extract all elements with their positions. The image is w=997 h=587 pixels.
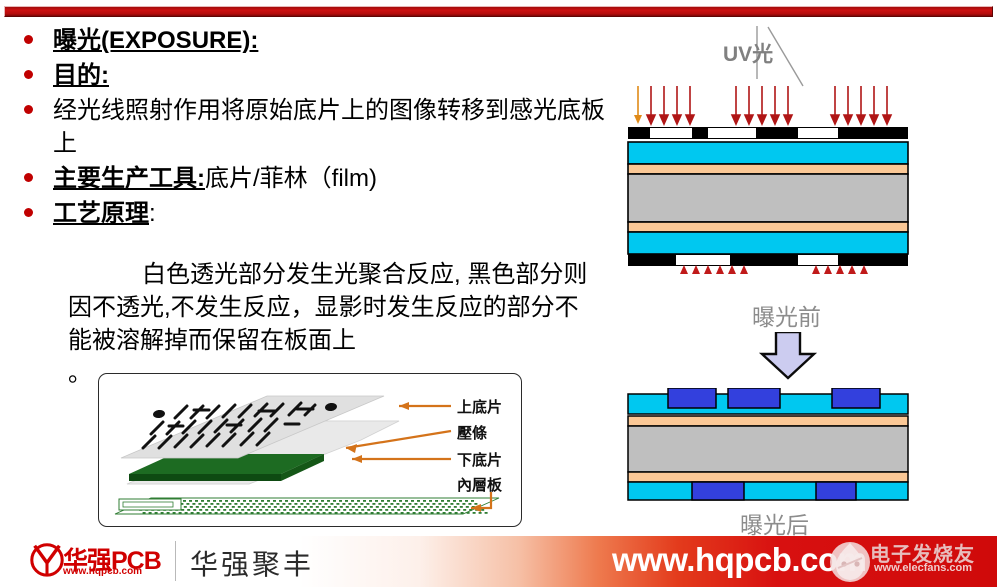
bullet-list: 曝光(EXPOSURE): 目的: 经光线照射作用将原始底片上的图像转移到感光底… — [24, 24, 614, 232]
brand-chinese-name: 华强聚丰 — [190, 543, 314, 583]
list-item-purpose-body: 经光线照射作用将原始底片上的图像转移到感光底板上 — [24, 94, 614, 160]
principle-paragraph: 白色透光部分发生光聚合反应, 黑色部分则因不透光,不发生反应，显影时发生反应的部… — [68, 258, 600, 357]
picture-label-1: 壓條 — [457, 424, 488, 442]
watermark-url: www.elecfans.com — [874, 562, 972, 574]
logo-divider — [175, 541, 176, 581]
panel-stack — [628, 142, 908, 254]
tools-label: 主要生产工具: — [53, 165, 205, 192]
brand-url-sub: www.hqpcb.com — [63, 566, 142, 577]
before-exposure-label: 曝光前 — [752, 298, 821, 332]
bullet-dot-icon — [24, 35, 33, 44]
exposure-diagram-after — [620, 388, 980, 503]
exposure-diagram-before — [620, 24, 980, 274]
bullet-dot-icon — [24, 70, 33, 79]
film-stack-illustration: 上底片 壓條 下底片 內層板 — [98, 373, 522, 527]
picture-label-2: 下底片 — [457, 451, 502, 469]
top-accent-bar — [4, 6, 993, 17]
bullet-dot-icon — [24, 208, 33, 217]
list-item-tools: 主要生产工具:底片/菲林（film) — [24, 162, 614, 195]
bullet-text-group: 主要生产工具:底片/菲林（film) — [53, 162, 614, 195]
bullet-dot-icon — [24, 105, 33, 114]
bullet-text: 曝光(EXPOSURE): — [53, 24, 614, 57]
top-film-mask — [628, 127, 908, 139]
principle-colon: : — [149, 200, 156, 227]
principle-label: 工艺原理 — [53, 200, 149, 227]
list-item-principle: 工艺原理: — [24, 197, 614, 230]
list-item-purpose: 目的: — [24, 59, 614, 92]
bullet-text: 目的: — [53, 59, 614, 92]
flame-logo-icon — [828, 540, 872, 584]
downward-process-arrow — [758, 332, 818, 380]
list-item-exposure: 曝光(EXPOSURE): — [24, 24, 614, 57]
bottom-film-mask — [628, 254, 908, 266]
watermark: 电子发烧友 www.elecfans.com — [828, 536, 997, 587]
bullet-text-group: 工艺原理: — [53, 197, 614, 230]
picture-label-0: 上底片 — [457, 398, 502, 416]
uv-light-label: UV光 — [723, 38, 773, 68]
picture-label-3: 內層板 — [457, 476, 503, 494]
bullet-text: 经光线照射作用将原始底片上的图像转移到感光底板上 — [53, 94, 614, 160]
tools-value: 底片/菲林（film) — [205, 165, 377, 192]
after-exposure-label: 曝光后 — [740, 506, 809, 540]
film-stack-svg: 上底片 壓條 下底片 內層板 — [99, 374, 520, 525]
paragraph-trailing-mark: 。 — [68, 357, 92, 390]
hqpcb-logo-icon — [28, 540, 66, 578]
slide-canvas: 曝光(EXPOSURE): 目的: 经光线照射作用将原始底片上的图像转移到感光底… — [0, 0, 997, 587]
bullet-dot-icon — [24, 173, 33, 182]
